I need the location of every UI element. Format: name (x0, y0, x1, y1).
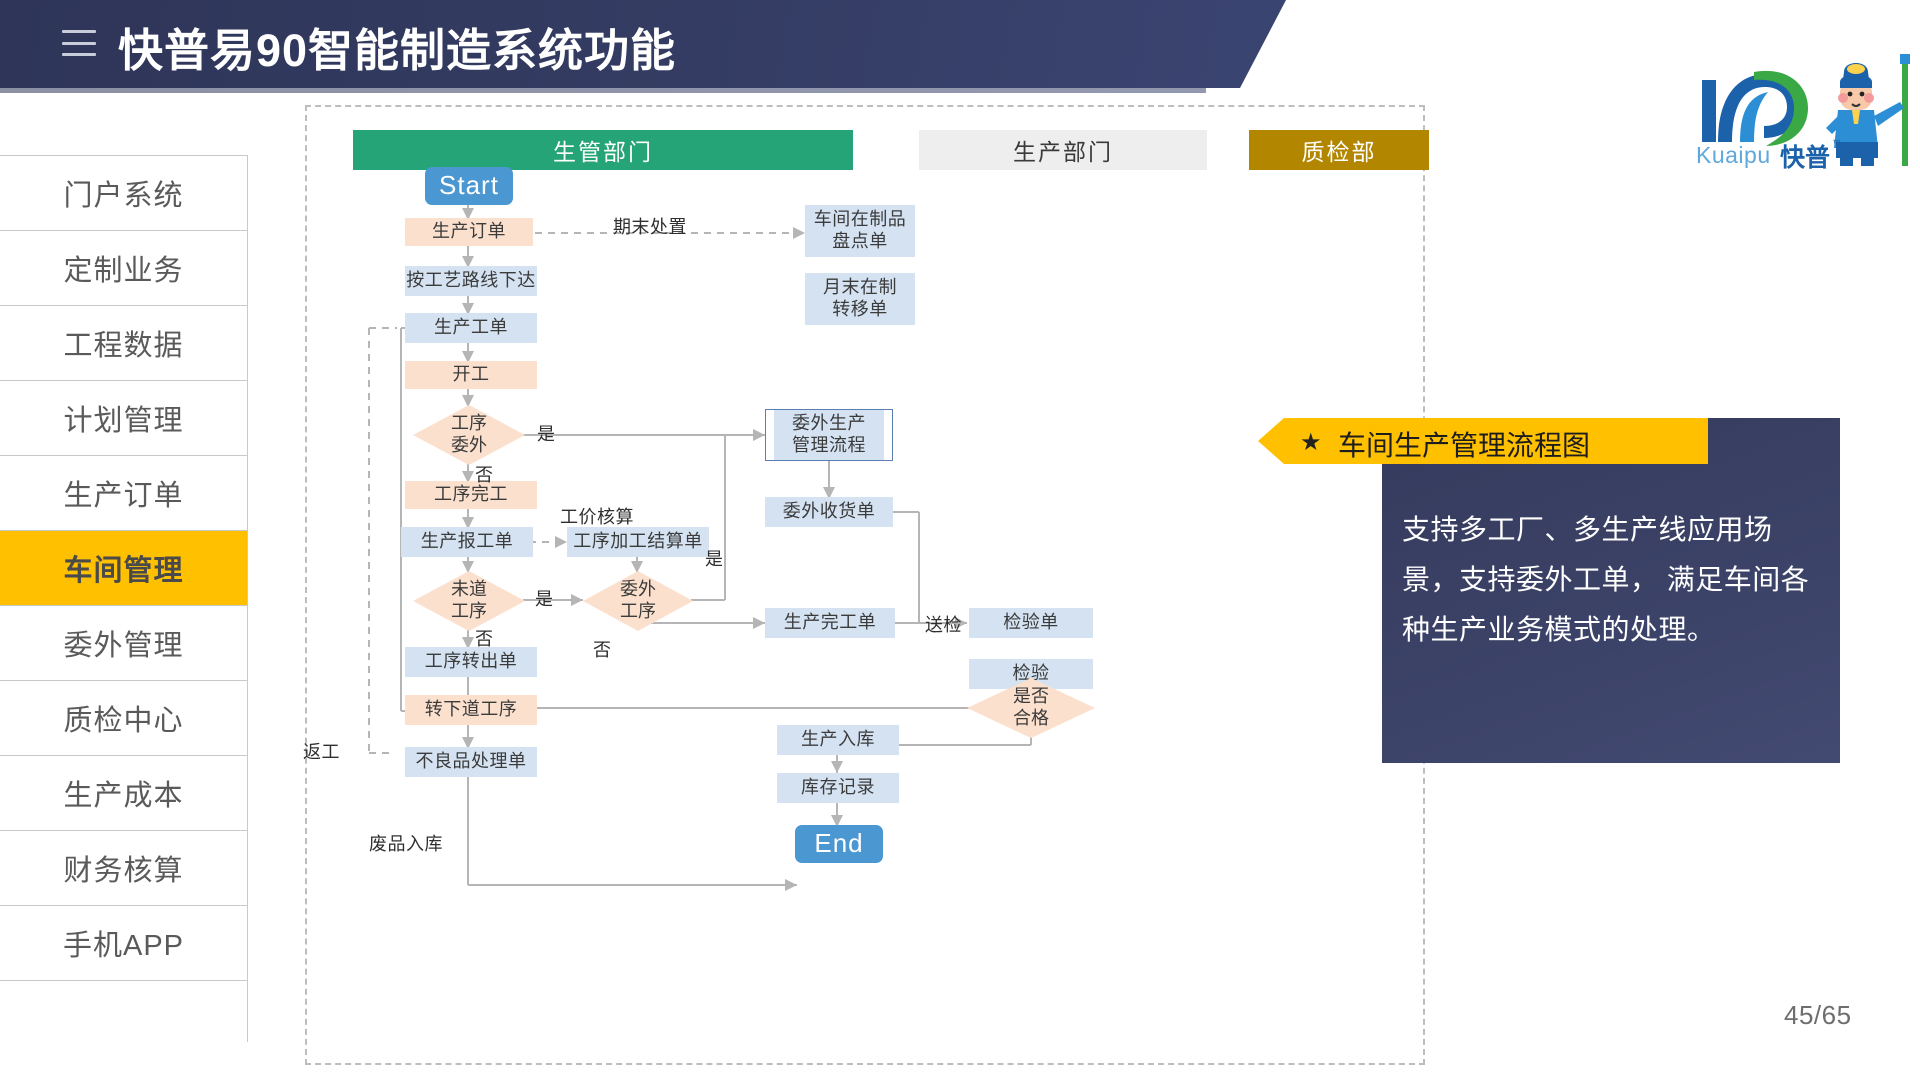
edge-label-scrap-in: 废品入库 (369, 830, 443, 856)
node-release-by-route[interactable]: 按工艺路线下达 (405, 266, 537, 296)
sidebar-item-qc[interactable]: 质检中心 (0, 680, 248, 755)
node-operation-complete[interactable]: 工序完工 (405, 481, 537, 509)
node-month-end-wip-transfer[interactable]: 月末在制转移单 (805, 273, 915, 325)
node-wip-count-sheet[interactable]: 车间在制品盘点单 (805, 205, 915, 257)
node-end[interactable]: End (795, 825, 883, 863)
node-decision-last-operation[interactable]: 未道工序 (413, 571, 525, 631)
node-operation-transfer-out[interactable]: 工序转出单 (405, 647, 537, 677)
sidebar-item-planning[interactable]: 计划管理 (0, 380, 248, 455)
edge-label-rework: 返工 (303, 738, 340, 764)
node-defect-handling[interactable]: 不良品处理单 (405, 747, 537, 777)
flowchart: 生管部门 生产部门 质检部 Start 生产订单 按工艺路线下达 生产工单 开工… (305, 105, 1425, 1065)
sidebar-filler (0, 980, 248, 1042)
sidebar-item-mobile-app[interactable]: 手机APP (0, 905, 248, 980)
slide-canvas: 快普易90智能制造系统功能 (0, 0, 1920, 1080)
sidebar-menu[interactable]: 门户系统 定制业务 工程数据 计划管理 生产订单 车间管理 委外管理 质检中心 … (0, 155, 248, 1042)
logo-chinese-text: 快普 (1780, 138, 1830, 174)
edge-label-yes-3: 是 (705, 545, 724, 571)
node-production-order[interactable]: 生产订单 (405, 218, 533, 246)
sidebar-item-engineering[interactable]: 工程数据 (0, 305, 248, 380)
node-decision-outsource-op[interactable]: 工序委外 (413, 405, 525, 465)
page-number: 45/65 (1784, 1000, 1852, 1031)
star-icon: ★ (1300, 428, 1322, 457)
node-inspection-doc[interactable]: 检验单 (969, 608, 1093, 638)
lane-header-qc-dept: 质检部 (1249, 130, 1429, 170)
edge-label-price-calc: 工价核算 (560, 503, 634, 529)
edge-label-period-end: 期末处置 (613, 213, 687, 239)
node-work-order[interactable]: 生产工单 (405, 313, 537, 343)
edge-label-yes-2: 是 (535, 585, 554, 611)
node-decision-outsourced-operation-label: 委外工序 (620, 579, 656, 623)
logo-trademark: ™ (1832, 138, 1841, 148)
sidebar-item-finance[interactable]: 财务核算 (0, 830, 248, 905)
sidebar-item-workshop[interactable]: 车间管理 (0, 530, 248, 605)
page-title: 快普易90智能制造系统功能 (118, 14, 676, 79)
header-shadow (0, 88, 1206, 93)
hamburger-icon[interactable] (62, 30, 96, 56)
node-decision-outsource-op-label: 工序委外 (451, 413, 487, 457)
node-decision-last-operation-label: 未道工序 (451, 579, 487, 623)
node-outsourcing-subprocess[interactable]: 委外生产管理流程 (765, 409, 893, 461)
edge-label-yes-1: 是 (537, 420, 556, 446)
node-start[interactable]: Start (425, 167, 513, 205)
node-decision-outsourced-operation[interactable]: 委外工序 (583, 571, 693, 631)
lane-header-production-dept: 生产部门 (919, 130, 1207, 170)
sidebar-item-prod-order[interactable]: 生产订单 (0, 455, 248, 530)
sidebar-item-cost[interactable]: 生产成本 (0, 755, 248, 830)
node-production-completion[interactable]: 生产完工单 (765, 608, 895, 638)
sidebar-item-outsourcing[interactable]: 委外管理 (0, 605, 248, 680)
edge-label-no-3: 否 (593, 636, 612, 662)
node-production-stock-in[interactable]: 生产入库 (777, 725, 899, 755)
edge-label-no-2: 否 (475, 625, 494, 651)
sidebar-item-portal[interactable]: 门户系统 (0, 155, 248, 230)
node-decision-qualified[interactable]: 是否合格 (967, 678, 1095, 738)
node-start-work[interactable]: 开工 (405, 361, 537, 389)
callout-description: 支持多工厂、多生产线应用场景，支持委外工单， 满足车间各种生产业务模式的处理。 (1402, 505, 1822, 654)
logo-latin-text: Kuaipu (1696, 142, 1771, 169)
node-next-operation[interactable]: 转下道工序 (405, 695, 537, 725)
sidebar-item-custom[interactable]: 定制业务 (0, 230, 248, 305)
lane-header-production-mgmt: 生管部门 (353, 130, 853, 170)
callout-title: 车间生产管理流程图 (1338, 424, 1678, 458)
node-outsourcing-receipt[interactable]: 委外收货单 (765, 497, 893, 527)
node-inventory-record[interactable]: 库存记录 (777, 773, 899, 803)
node-decision-qualified-label: 是否合格 (1013, 686, 1049, 730)
edge-label-no-1: 否 (475, 461, 494, 487)
node-production-report[interactable]: 生产报工单 (401, 527, 533, 557)
node-operation-settlement[interactable]: 工序加工结算单 (567, 527, 709, 557)
brand-logo: Kuaipu 快普 ™ (1688, 58, 1918, 178)
edge-label-send-inspect: 送检 (925, 611, 962, 637)
